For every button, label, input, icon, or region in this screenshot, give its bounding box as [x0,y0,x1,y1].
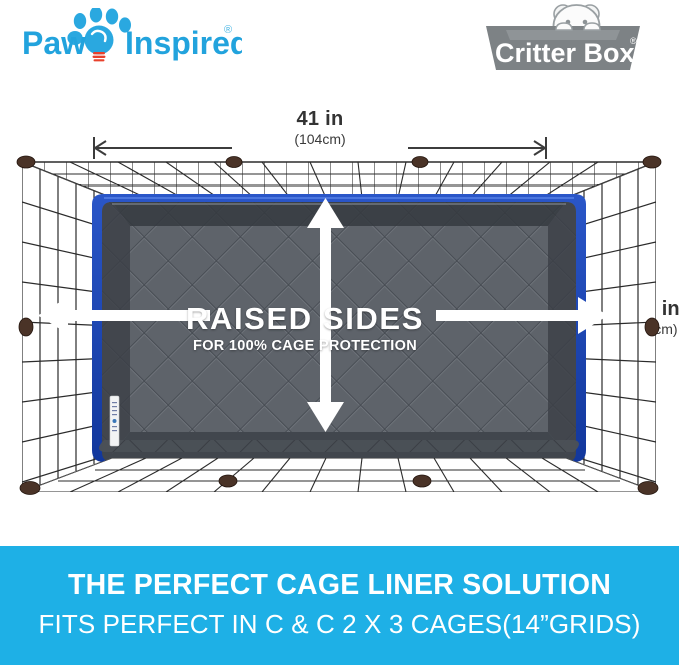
lightbulb-icon [85,26,114,62]
critter-box-logo: Critter Box ® [478,4,648,74]
connector-top-left [17,156,35,168]
connector-top-right [643,156,661,168]
connector-left-mid [19,318,33,336]
liner-floor [130,226,548,432]
connector-top-mid-right [412,157,428,168]
product-label-tag [110,396,119,446]
header: Paw Inspired ® Critter Box [0,0,679,95]
liner-right-wall [548,202,576,454]
paw-inspired-trademark-icon: ® [224,24,232,36]
paw-inspired-word-paw: Paw [22,25,86,61]
paw-inspired-logo: Paw Inspired ® [22,8,242,70]
connector-bottom-mid-right [413,475,431,487]
liner-front-roll [99,440,579,452]
connector-bottom-mid-left [219,475,237,487]
product-illustration [0,140,679,520]
paw-right-icon [584,23,600,30]
connector-bottom-left [20,482,40,495]
critter-box-wordmark: Critter Box [495,38,635,68]
cage-and-liner-graphic [0,140,679,520]
connector-top-mid-left [226,157,242,168]
cage-liner [92,194,586,462]
bottom-banner: THE PERFECT CAGE LINER SOLUTION FITS PER… [0,546,679,665]
banner-subhead: FITS PERFECT IN C & C 2 X 3 CAGES(14”GRI… [0,601,679,639]
connector-bottom-right [638,482,658,495]
critter-box-logo-graphic: Critter Box ® [478,4,648,74]
banner-headline: THE PERFECT CAGE LINER SOLUTION [0,546,679,601]
critter-box-trademark-icon: ® [630,36,637,46]
connector-right-mid [645,318,659,336]
paw-left-icon [556,23,572,30]
paw-inspired-logo-graphic: Paw Inspired ® [22,8,242,70]
